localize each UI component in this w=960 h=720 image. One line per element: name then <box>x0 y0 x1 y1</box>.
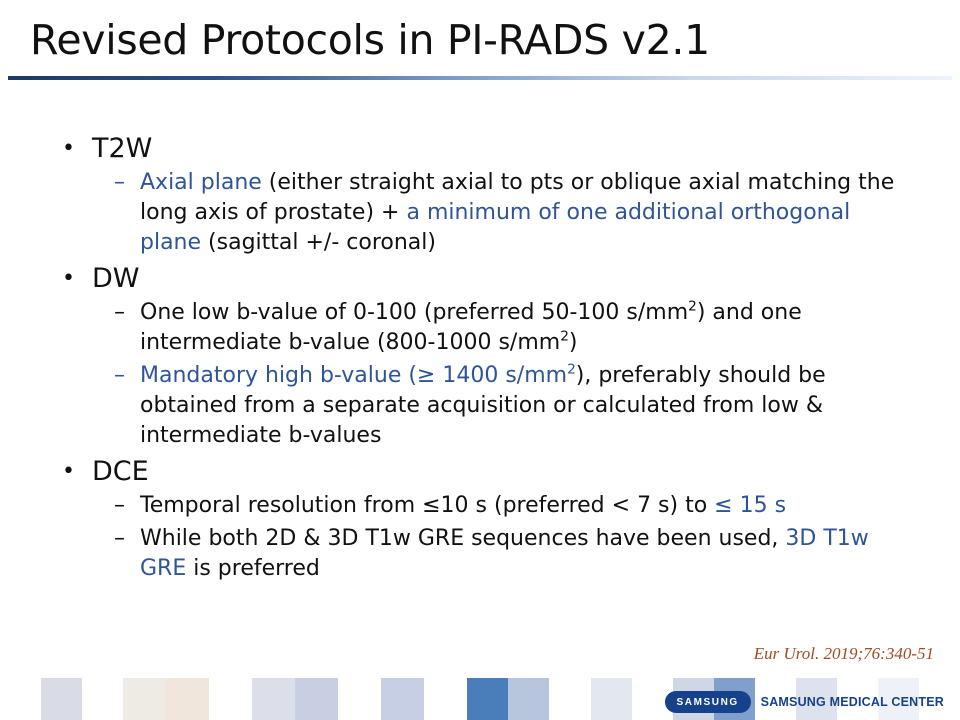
band-segment <box>508 678 549 720</box>
band-segment <box>591 678 632 720</box>
band-segment <box>123 678 166 720</box>
bullet-level2-text: One low b-value of 0-100 (preferred 50-1… <box>140 298 900 358</box>
text-segment: One low b-value of 0-100 (preferred 50-1… <box>140 300 688 325</box>
slide-body: • T2W – Axial plane (either straight axi… <box>62 128 942 587</box>
band-segment <box>252 678 295 720</box>
bullet-level1-label: T2W <box>92 132 152 165</box>
band-segment <box>209 678 252 720</box>
text-segment: While both 2D & 3D T1w GRE sequences hav… <box>140 526 785 551</box>
title-divider <box>8 76 952 80</box>
list-item: • DCE <box>62 455 942 488</box>
band-segment <box>41 678 82 720</box>
citation-text: Eur Urol. 2019;76:340-51 <box>754 644 934 664</box>
bullet-glyph: • <box>62 262 92 295</box>
bullet-level1-label: DW <box>92 262 140 295</box>
dash-glyph: – <box>114 524 140 554</box>
bullet-level2-text: While both 2D & 3D T1w GRE sequences hav… <box>140 524 900 584</box>
bullet-level1-label: DCE <box>92 455 149 488</box>
samsung-medical-center-logo: SAMSUNG MEDICAL CENTER <box>761 695 944 709</box>
text-segment: Axial plane <box>140 170 262 195</box>
band-segment <box>295 678 338 720</box>
superscript: 2 <box>567 362 576 378</box>
band-segment <box>166 678 209 720</box>
bullet-level2-text: Mandatory high b-value (≥ 1400 s/mm2), p… <box>140 361 900 451</box>
dash-glyph: – <box>114 168 140 198</box>
dash-glyph: – <box>114 491 140 521</box>
slide: Revised Protocols in PI-RADS v2.1 • T2W … <box>0 0 960 720</box>
list-item: – Temporal resolution from ≤10 s (prefer… <box>114 491 942 521</box>
band-segment <box>424 678 467 720</box>
text-segment: (sagittal +/- coronal) <box>201 230 436 255</box>
band-segment <box>338 678 381 720</box>
band-segment <box>467 678 508 720</box>
list-item: – Mandatory high b-value (≥ 1400 s/mm2),… <box>114 361 942 451</box>
list-item: – While both 2D & 3D T1w GRE sequences h… <box>114 524 942 584</box>
bullet-level2-text: Temporal resolution from ≤10 s (preferre… <box>140 491 900 521</box>
bullet-glyph: • <box>62 455 92 488</box>
list-item: – One low b-value of 0-100 (preferred 50… <box>114 298 942 358</box>
text-segment: Mandatory high b-value (≥ 1400 s/mm <box>140 363 567 388</box>
list-item: – Axial plane (either straight axial to … <box>114 168 942 258</box>
logo-group: SAMSUNG SAMSUNG MEDICAL CENTER <box>665 691 944 713</box>
samsung-logo: SAMSUNG <box>665 691 751 713</box>
text-segment: Temporal resolution from ≤10 s (preferre… <box>140 493 714 518</box>
dash-glyph: – <box>114 361 140 391</box>
superscript: 2 <box>560 329 569 345</box>
list-item: • DW <box>62 262 942 295</box>
band-segment <box>381 678 424 720</box>
bullet-glyph: • <box>62 132 92 165</box>
page-title: Revised Protocols in PI-RADS v2.1 <box>30 16 930 64</box>
bullet-level2-text: Axial plane (either straight axial to pt… <box>140 168 900 258</box>
superscript: 2 <box>688 299 697 315</box>
band-segment <box>549 678 590 720</box>
list-item: • T2W <box>62 132 942 165</box>
dash-glyph: – <box>114 298 140 328</box>
text-segment: is preferred <box>186 556 320 581</box>
band-segment <box>0 678 41 720</box>
text-segment: ≤ 15 s <box>714 493 786 518</box>
band-segment <box>82 678 123 720</box>
text-segment: ) <box>569 330 578 355</box>
